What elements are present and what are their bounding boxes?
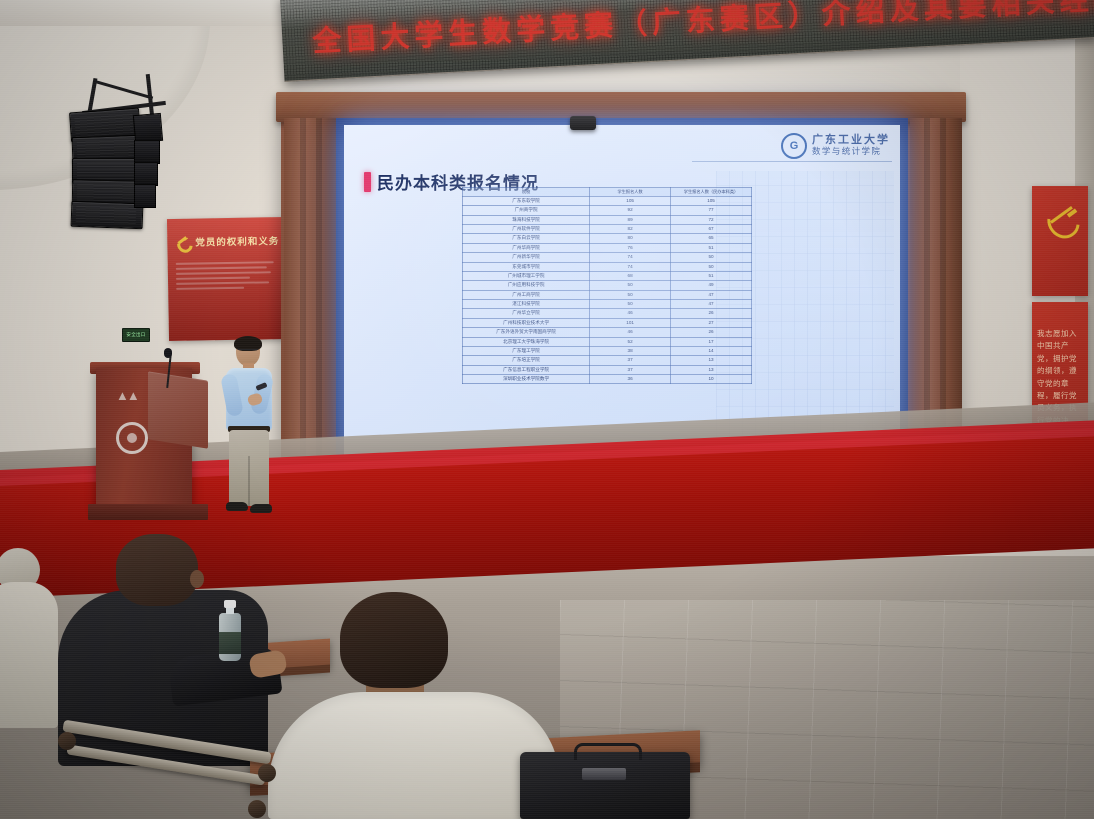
briefcase-bag bbox=[520, 752, 690, 819]
cell-school: 广州工商学院 bbox=[463, 290, 590, 299]
cell-school: 广东理工学院 bbox=[463, 346, 590, 355]
table-row: 广东外语外贸大学南国商学院4626 bbox=[463, 328, 752, 337]
cell-count: 50 bbox=[590, 300, 671, 309]
table-row: 北京理工大学珠海学院5217 bbox=[463, 337, 752, 346]
cell-count: 50 bbox=[590, 290, 671, 299]
speaker-side-3 bbox=[134, 162, 158, 186]
cell-count-private: 13 bbox=[671, 365, 752, 374]
table-row: 广州城市理工学院6851 bbox=[463, 271, 752, 280]
cell-count: 74 bbox=[590, 253, 671, 262]
table-row: 广东白云学院8065 bbox=[463, 234, 752, 243]
water-bottle bbox=[218, 600, 242, 662]
table-header-row: 院校 学生报名人数 学生报名人数（民办本科类） bbox=[463, 188, 752, 197]
podium-seal-icon bbox=[116, 422, 148, 454]
cell-count: 105 bbox=[590, 196, 671, 205]
table-row: 深圳职业技术学院数学3610 bbox=[463, 375, 752, 384]
bag-clasp bbox=[582, 768, 626, 780]
cell-school: 广州城市理工学院 bbox=[463, 271, 590, 280]
cell-count: 92 bbox=[590, 206, 671, 215]
table-header-school: 院校 bbox=[463, 188, 590, 197]
presenter-shoe-right bbox=[250, 504, 272, 513]
chair-knob-left bbox=[58, 732, 76, 750]
cell-school: 广州华立学院 bbox=[463, 309, 590, 318]
table-row: 广东信息工程职业学院3713 bbox=[463, 365, 752, 374]
table-header-count: 学生报名人数 bbox=[590, 188, 671, 197]
microphone-icon bbox=[164, 348, 172, 358]
cell-school: 广州商学院 bbox=[463, 206, 590, 215]
lecture-hall-photo: 全国大学生数学竞赛（广东赛区）介绍及其要相关经验分享 党员的权利和义务 bbox=[0, 0, 1094, 819]
registration-table-body: 广东东软学院105105广州商学院9277珠海科技学院8972广州软件学院826… bbox=[463, 196, 752, 384]
presenter-shoe-left bbox=[226, 502, 248, 511]
exit-sign: 安全出口 bbox=[122, 328, 150, 342]
table-header-count-private: 学生报名人数（民办本科类） bbox=[671, 188, 752, 197]
cell-count: 46 bbox=[590, 328, 671, 337]
cell-school: 广州华商学院 bbox=[463, 243, 590, 252]
cell-count-private: 51 bbox=[671, 271, 752, 280]
slide-university-logo: G 广东工业大学 数学与统计学院 bbox=[781, 133, 890, 159]
cell-count-private: 49 bbox=[671, 281, 752, 290]
cell-count-private: 27 bbox=[671, 318, 752, 327]
bottle-cap bbox=[224, 600, 236, 608]
speaker-box-5 bbox=[71, 201, 144, 229]
table-row: 广州工商学院5047 bbox=[463, 290, 752, 299]
bag-handle bbox=[574, 743, 642, 760]
podium-logo-mark: ▲▲ bbox=[116, 388, 138, 402]
table-row: 广州科技职业技术大学10127 bbox=[463, 318, 752, 327]
table-row: 东莞城市学院7450 bbox=[463, 262, 752, 271]
cell-count: 76 bbox=[590, 243, 671, 252]
speaker-side-4 bbox=[134, 184, 156, 208]
table-row: 广东理工学院3814 bbox=[463, 346, 752, 355]
school-name: 数学与统计学院 bbox=[812, 147, 890, 156]
cell-school: 广州科技职业技术大学 bbox=[463, 318, 590, 327]
cell-count: 74 bbox=[590, 262, 671, 271]
rig-brace bbox=[93, 80, 153, 100]
exit-sign-text: 安全出口 bbox=[126, 332, 145, 338]
cell-count: 89 bbox=[590, 215, 671, 224]
cell-count-private: 26 bbox=[671, 328, 752, 337]
cell-school: 广东东软学院 bbox=[463, 196, 590, 205]
speaker-side-1 bbox=[133, 113, 163, 143]
cell-count: 68 bbox=[590, 271, 671, 280]
registration-table: 院校 学生报名人数 学生报名人数（民办本科类） 广东东软学院105105广州商学… bbox=[462, 187, 752, 384]
cell-count-private: 50 bbox=[671, 262, 752, 271]
bottle-label bbox=[219, 632, 241, 654]
bottle-neck bbox=[226, 607, 234, 614]
table-row: 广州华商学院7651 bbox=[463, 243, 752, 252]
cell-count-private: 72 bbox=[671, 215, 752, 224]
table-row: 广州商学院9277 bbox=[463, 206, 752, 215]
cell-school: 北京理工大学珠海学院 bbox=[463, 337, 590, 346]
cell-count-private: 67 bbox=[671, 225, 752, 234]
hammer-and-sickle-icon-large bbox=[1042, 202, 1082, 238]
speaker-side-2 bbox=[134, 140, 160, 164]
cell-count: 52 bbox=[590, 337, 671, 346]
presenter-glasses bbox=[238, 349, 258, 354]
cell-count-private: 50 bbox=[671, 253, 752, 262]
wall-poster-party-rights: 党员的权利和义务 bbox=[167, 217, 291, 341]
chair-knob-right bbox=[258, 764, 276, 782]
cell-count: 37 bbox=[590, 356, 671, 365]
cell-count-private: 14 bbox=[671, 346, 752, 355]
table-row: 广东东软学院105105 bbox=[463, 196, 752, 205]
cell-count-private: 65 bbox=[671, 234, 752, 243]
cell-school: 广东信息工程职业学院 bbox=[463, 365, 590, 374]
cell-school: 广东培正学院 bbox=[463, 356, 590, 365]
cell-count: 50 bbox=[590, 281, 671, 290]
table-row: 广州软件学院8267 bbox=[463, 225, 752, 234]
cell-count: 37 bbox=[590, 365, 671, 374]
cell-count-private: 10 bbox=[671, 375, 752, 384]
cell-count-private: 47 bbox=[671, 290, 752, 299]
table-row: 广州新华学院7450 bbox=[463, 253, 752, 262]
cell-school: 广州应用科技学院 bbox=[463, 281, 590, 290]
table-row: 湛江科技学院5047 bbox=[463, 300, 752, 309]
table-row: 珠海科技学院8972 bbox=[463, 215, 752, 224]
cell-count: 46 bbox=[590, 309, 671, 318]
lectern-podium: ▲▲ bbox=[88, 344, 208, 518]
cell-count: 82 bbox=[590, 225, 671, 234]
cell-count: 80 bbox=[590, 234, 671, 243]
folding-chair bbox=[62, 726, 312, 819]
cell-school: 深圳职业技术学院数学 bbox=[463, 375, 590, 384]
table-row: 广州华立学院4626 bbox=[463, 309, 752, 318]
cell-count-private: 77 bbox=[671, 206, 752, 215]
cell-count-private: 51 bbox=[671, 243, 752, 252]
university-seal-icon: G bbox=[781, 133, 807, 159]
university-logo-text: 广东工业大学 数学与统计学院 bbox=[812, 135, 890, 156]
audience-front-center-head bbox=[340, 592, 448, 688]
cell-school: 广州新华学院 bbox=[463, 253, 590, 262]
audience-member-left bbox=[0, 548, 60, 728]
cell-count: 38 bbox=[590, 346, 671, 355]
cell-school: 湛江科技学院 bbox=[463, 300, 590, 309]
cell-count-private: 17 bbox=[671, 337, 752, 346]
cell-count: 36 bbox=[590, 375, 671, 384]
cell-school: 东莞城市学院 bbox=[463, 262, 590, 271]
projector-unit bbox=[570, 116, 596, 130]
presenter-leg-seam bbox=[248, 456, 250, 506]
chair-knob-bottom bbox=[248, 800, 266, 818]
cell-school: 广东白云学院 bbox=[463, 234, 590, 243]
cell-count-private: 47 bbox=[671, 300, 752, 309]
slide-header-rule bbox=[692, 161, 892, 162]
slide-title-accent-bar bbox=[364, 172, 371, 192]
cell-school: 广东外语外贸大学南国商学院 bbox=[463, 328, 590, 337]
poster-shading bbox=[167, 217, 291, 341]
presenter bbox=[222, 338, 278, 524]
cell-count-private: 26 bbox=[671, 309, 752, 318]
podium-base bbox=[88, 504, 208, 520]
audience-left-body bbox=[0, 582, 58, 728]
cell-count: 101 bbox=[590, 318, 671, 327]
wall-poster-emblem bbox=[1032, 186, 1088, 296]
table-row: 广州应用科技学院5049 bbox=[463, 281, 752, 290]
table-row: 广东培正学院3713 bbox=[463, 356, 752, 365]
cell-count-private: 13 bbox=[671, 356, 752, 365]
cell-school: 珠海科技学院 bbox=[463, 215, 590, 224]
audience-front-left-ear bbox=[190, 570, 204, 588]
cell-count-private: 105 bbox=[671, 196, 752, 205]
cell-school: 广州软件学院 bbox=[463, 225, 590, 234]
podium-reading-slope bbox=[148, 371, 208, 449]
audience-front-left-head bbox=[116, 534, 198, 606]
